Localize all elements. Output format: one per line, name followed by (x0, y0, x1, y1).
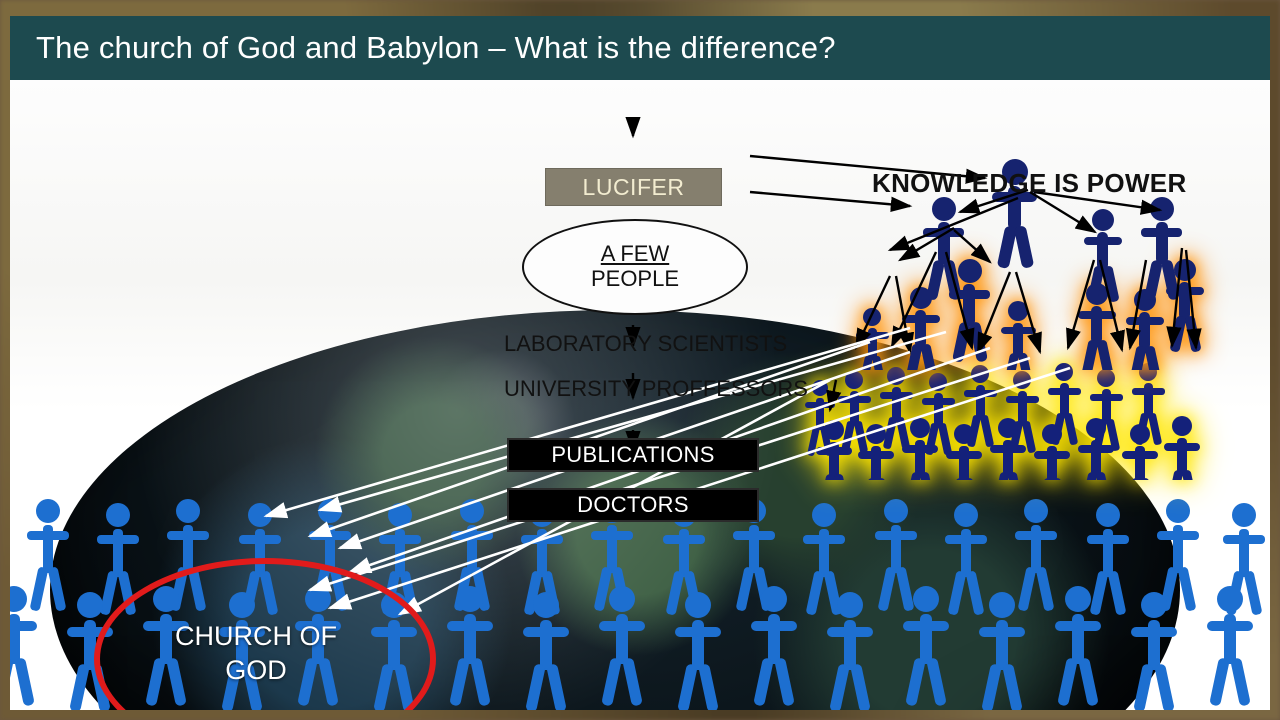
node-publications-label: PUBLICATIONS (551, 442, 714, 468)
page-title: The church of God and Babylon – What is … (10, 30, 836, 66)
heading-knowledge-is-power: KNOWLEDGE IS POWER (872, 168, 1187, 199)
node-doctors-label: DOCTORS (577, 492, 689, 518)
label-church-of-god: CHURCH OF GOD (156, 620, 356, 688)
node-lucifer: LUCIFER (545, 168, 722, 206)
node-a-few-people-line1: A FEW (601, 242, 669, 267)
node-university-professors: UNIVERSITY PROFFESSORS (504, 376, 764, 402)
node-laboratory-scientists: LABORATORY SCIENTISTS (504, 331, 764, 357)
slide-canvas: LUCIFER A FEW PEOPLE LABORATORY SCIENTIS… (0, 0, 1280, 720)
label-church-of-god-line1: CHURCH OF (156, 620, 356, 654)
slide-body: LUCIFER A FEW PEOPLE LABORATORY SCIENTIS… (10, 80, 1270, 710)
node-publications: PUBLICATIONS (507, 438, 759, 472)
slide-title-bar: The church of God and Babylon – What is … (10, 16, 1270, 80)
node-doctors: DOCTORS (507, 488, 759, 522)
node-a-few-people: A FEW PEOPLE (522, 219, 748, 315)
node-a-few-people-line2: PEOPLE (591, 267, 679, 292)
node-lucifer-label: LUCIFER (583, 174, 685, 201)
label-church-of-god-line2: GOD (156, 654, 356, 688)
